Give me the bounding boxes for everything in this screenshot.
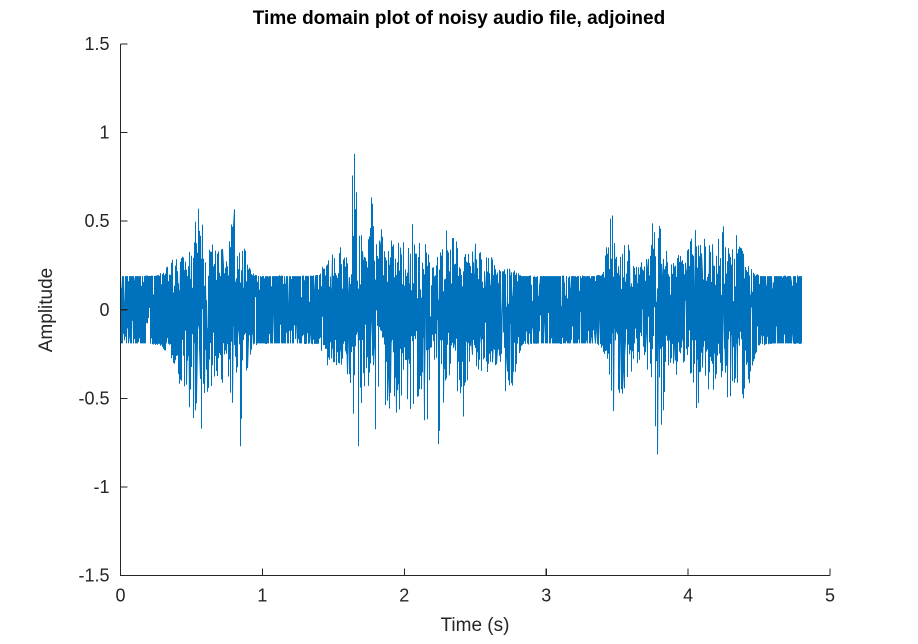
x-tick-label: 0 (115, 586, 125, 606)
y-tick-label: -0.5 (78, 388, 109, 408)
time-domain-plot: 1.510.50-0.5-1-1.5 012345 Time (s) Ampli… (0, 0, 918, 644)
y-tick-label: 1 (99, 123, 109, 143)
y-tick-label: 0.5 (84, 211, 109, 231)
y-tick-label: 0 (99, 300, 109, 320)
y-axis-label: Amplitude (36, 268, 57, 353)
x-tick-label: 2 (399, 586, 409, 606)
x-axis-label: Time (s) (441, 615, 510, 636)
figure-canvas: Time domain plot of noisy audio file, ad… (0, 0, 918, 644)
x-tick-label: 1 (257, 586, 267, 606)
y-tick-label: 1.5 (84, 34, 109, 54)
y-tick-label: -1 (93, 477, 109, 497)
x-tick-label: 4 (683, 586, 693, 606)
x-axis-ticks: 012345 (115, 569, 835, 606)
x-tick-label: 5 (825, 586, 835, 606)
y-tick-label: -1.5 (78, 566, 109, 586)
waveform-group (121, 154, 802, 455)
x-tick-label: 3 (541, 586, 551, 606)
audio-waveform-trace (121, 154, 802, 455)
